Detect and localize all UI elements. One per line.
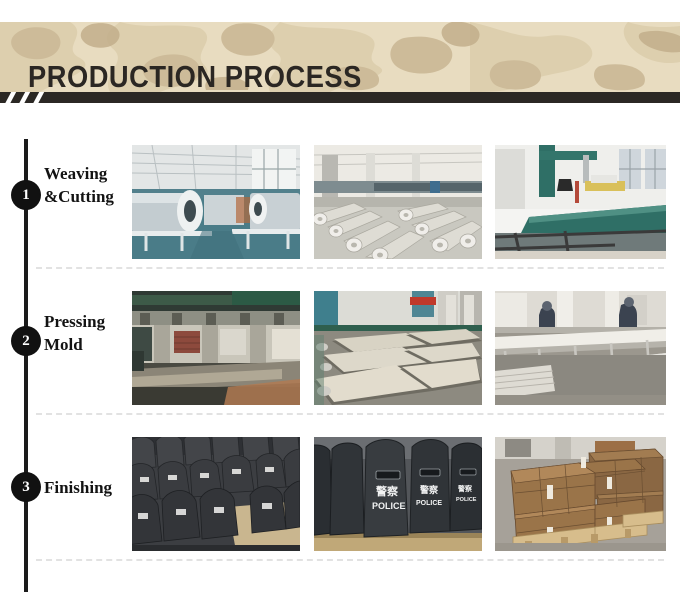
step-label-line-1: Finishing — [44, 476, 130, 499]
step-number-badge-1: 1 — [12, 181, 40, 209]
photo-stacked-ballistic-panels — [132, 437, 300, 551]
photo-pressed-panel-molds — [314, 291, 482, 405]
svg-text:POLICE: POLICE — [372, 501, 406, 511]
step-label-line-1: Pressing — [44, 310, 130, 333]
page-header: PRODUCTION PROCESS — [0, 22, 680, 92]
photo-fabric-roll-storage — [314, 145, 482, 259]
svg-text:警察: 警察 — [458, 484, 473, 493]
header-accent-stripe — [0, 92, 680, 103]
svg-text:POLICE: POLICE — [416, 500, 442, 507]
page-title: PRODUCTION PROCESS — [28, 60, 362, 92]
process-step-row: 1 Weaving &Cutting — [0, 137, 680, 283]
photo-green-cutting-machine — [495, 145, 666, 259]
process-step-row: 3 Finishing — [0, 429, 680, 575]
step-label-line-2: &Cutting — [44, 185, 130, 208]
step-label-line-1: Weaving — [44, 162, 130, 185]
step-3-photos: 警 CE 警察 POLICE 警察 POLICE 警察 POLICE — [132, 437, 668, 555]
process-steps-container: 1 Weaving &Cutting — [0, 115, 680, 585]
step-separator — [36, 267, 664, 269]
photo-assembly-work-tables — [495, 291, 666, 405]
step-1-photos — [132, 145, 668, 263]
stripe-slashes — [8, 92, 68, 103]
step-separator — [36, 559, 664, 561]
step-label-3: Finishing — [44, 476, 130, 499]
step-label-2: Pressing Mold — [44, 310, 130, 356]
svg-text:警察: 警察 — [375, 484, 399, 498]
step-number-badge-3: 3 — [12, 473, 40, 501]
step-2-photos — [132, 291, 668, 409]
photo-police-riot-shields: 警 CE 警察 POLICE 警察 POLICE 警察 POLICE — [314, 437, 482, 551]
step-separator — [36, 413, 664, 415]
photo-hydraulic-press — [132, 291, 300, 405]
process-step-row: 2 Pressing Mold — [0, 283, 680, 429]
step-number-badge-2: 2 — [12, 327, 40, 355]
photo-packed-cartons-on-pallets — [495, 437, 666, 551]
svg-text:POLICE: POLICE — [456, 497, 477, 503]
svg-text:警察: 警察 — [420, 484, 439, 495]
step-label-1: Weaving &Cutting — [44, 162, 130, 208]
photo-weaving-machine-hall — [132, 145, 300, 259]
step-label-line-2: Mold — [44, 333, 130, 356]
